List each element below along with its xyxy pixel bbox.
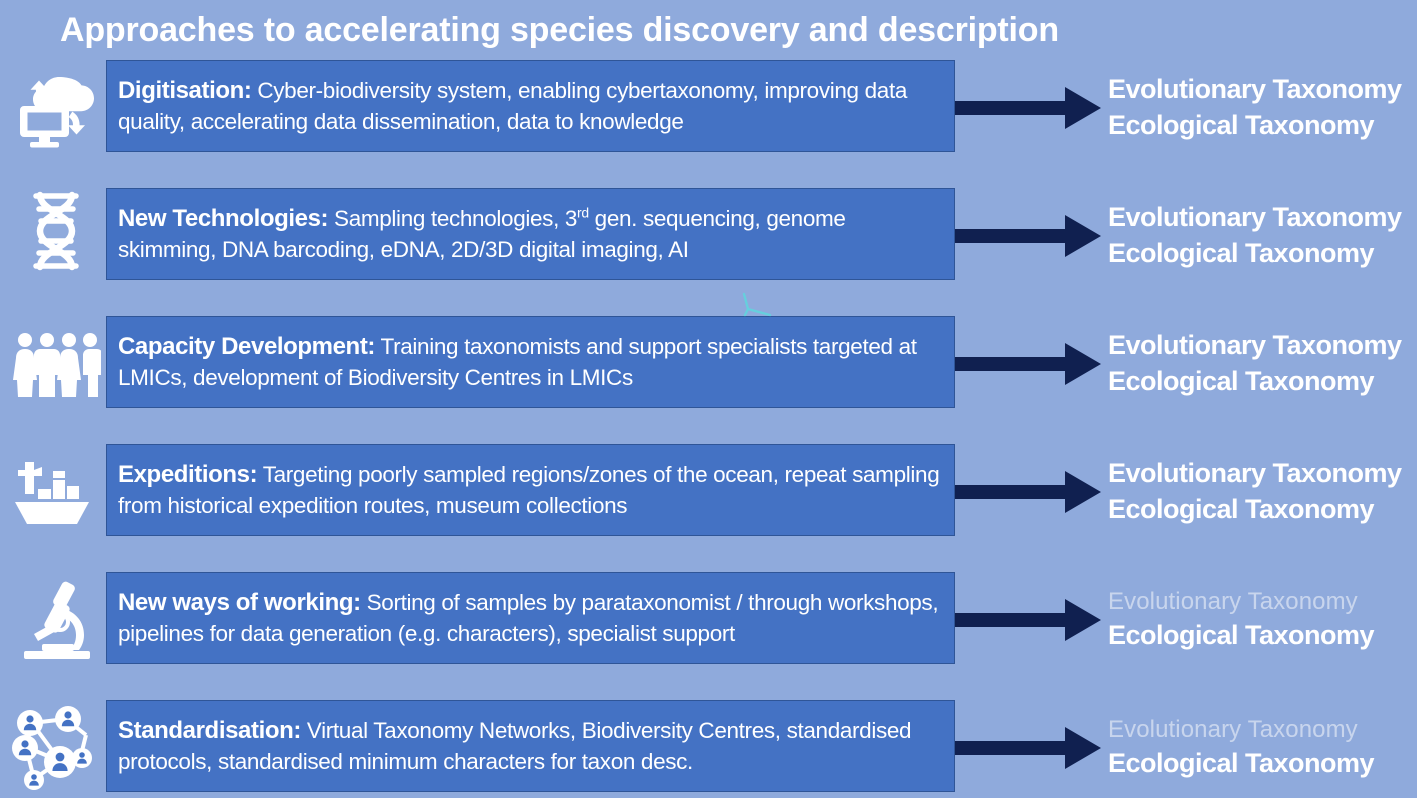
approach-body-line-1: Cyber-biodiversity system, enabling cybe… (257, 78, 758, 103)
approach-row-new-technologies: New Technologies: Sampling technologies,… (0, 186, 1417, 286)
outcome-list: Evolutionary Taxonomy Ecological Taxonom… (1108, 442, 1417, 542)
right-arrow-icon (955, 58, 1103, 158)
approach-body-line-1-pre: Sampling technologies, 3 (334, 206, 577, 231)
outcome-evolutionary-taxonomy: Evolutionary Taxonomy (1108, 328, 1417, 364)
people-network-icon (8, 698, 104, 798)
approach-lead: Standardisation: (118, 717, 301, 744)
cargo-ship-icon (8, 442, 104, 542)
approach-row-digitisation: Digitisation: Cyber-biodiversity system,… (0, 58, 1417, 158)
right-arrow-icon (955, 186, 1103, 286)
approach-box[interactable]: Standardisation: Virtual Taxonomy Networ… (106, 700, 955, 792)
outcome-list: Evolutionary Taxonomy Ecological Taxonom… (1108, 186, 1417, 286)
right-arrow-icon (955, 314, 1103, 414)
approach-row-capacity-development: Capacity Development: Training taxonomis… (0, 314, 1417, 414)
right-arrow-icon (955, 570, 1103, 670)
approach-lead: New ways of working: (118, 589, 361, 616)
slide-canvas: Approaches to accelerating species disco… (0, 0, 1417, 789)
right-arrow-icon (955, 442, 1103, 542)
microscope-icon (8, 570, 104, 670)
outcome-ecological-taxonomy: Ecological Taxonomy (1108, 746, 1417, 782)
approach-box[interactable]: Capacity Development: Training taxonomis… (106, 316, 955, 408)
outcome-list: Evolutionary Taxonomy Ecological Taxonom… (1108, 698, 1417, 798)
outcome-list: Evolutionary Taxonomy Ecological Taxonom… (1108, 570, 1417, 670)
approach-row-standardisation: Standardisation: Virtual Taxonomy Networ… (0, 698, 1417, 798)
approach-text: Expeditions: Targeting poorly sampled re… (118, 459, 946, 521)
approach-body-line-1: Sorting of samples by parataxonomist / t… (367, 590, 822, 615)
approach-box[interactable]: New Technologies: Sampling technologies,… (106, 188, 955, 280)
outcome-ecological-taxonomy: Ecological Taxonomy (1108, 492, 1417, 528)
approach-box[interactable]: Digitisation: Cyber-biodiversity system,… (106, 60, 955, 152)
approach-text: New ways of working: Sorting of samples … (118, 587, 946, 649)
outcome-evolutionary-taxonomy: Evolutionary Taxonomy (1108, 586, 1417, 618)
outcome-ecological-taxonomy: Ecological Taxonomy (1108, 364, 1417, 400)
outcome-evolutionary-taxonomy: Evolutionary Taxonomy (1108, 72, 1417, 108)
cloud-computing-icon (8, 58, 104, 158)
approach-text: Digitisation: Cyber-biodiversity system,… (118, 75, 946, 137)
approach-body-superscript: rd (577, 204, 589, 220)
approach-lead: Digitisation: (118, 77, 251, 104)
approach-lead: New Technologies: (118, 205, 328, 232)
outcome-ecological-taxonomy: Ecological Taxonomy (1108, 618, 1417, 654)
page-title: Approaches to accelerating species disco… (60, 6, 1060, 54)
approach-text: Standardisation: Virtual Taxonomy Networ… (118, 715, 946, 777)
approach-body-line-1: Targeting poorly sampled regions/zones o… (263, 462, 779, 487)
outcome-evolutionary-taxonomy: Evolutionary Taxonomy (1108, 456, 1417, 492)
outcome-ecological-taxonomy: Ecological Taxonomy (1108, 236, 1417, 272)
approach-body-line-1: Virtual Taxonomy Networks, Biodiversity … (307, 718, 781, 743)
approach-lead: Capacity Development: (118, 333, 375, 360)
right-arrow-icon (955, 698, 1103, 798)
outcome-evolutionary-taxonomy: Evolutionary Taxonomy (1108, 200, 1417, 236)
outcome-ecological-taxonomy: Ecological Taxonomy (1108, 108, 1417, 144)
approach-row-expeditions: Expeditions: Targeting poorly sampled re… (0, 442, 1417, 542)
approach-body-line-1: Training taxonomists and support special… (381, 334, 807, 359)
approach-lead: Expeditions: (118, 461, 257, 488)
approach-body-line-1-post: gen. sequencing, genome (589, 206, 846, 231)
approach-text: Capacity Development: Training taxonomis… (118, 331, 946, 393)
approach-row-new-ways-of-working: New ways of working: Sorting of samples … (0, 570, 1417, 670)
approach-body-line-2: skimming, DNA barcoding, eDNA, 2D/3D dig… (118, 237, 689, 262)
outcome-evolutionary-taxonomy: Evolutionary Taxonomy (1108, 714, 1417, 746)
approach-box[interactable]: Expeditions: Targeting poorly sampled re… (106, 444, 955, 536)
outcome-list: Evolutionary Taxonomy Ecological Taxonom… (1108, 58, 1417, 158)
approach-box[interactable]: New ways of working: Sorting of samples … (106, 572, 955, 664)
dna-helix-icon (8, 186, 104, 286)
people-group-icon (8, 314, 104, 414)
outcome-list: Evolutionary Taxonomy Ecological Taxonom… (1108, 314, 1417, 414)
approach-text: New Technologies: Sampling technologies,… (118, 203, 946, 265)
